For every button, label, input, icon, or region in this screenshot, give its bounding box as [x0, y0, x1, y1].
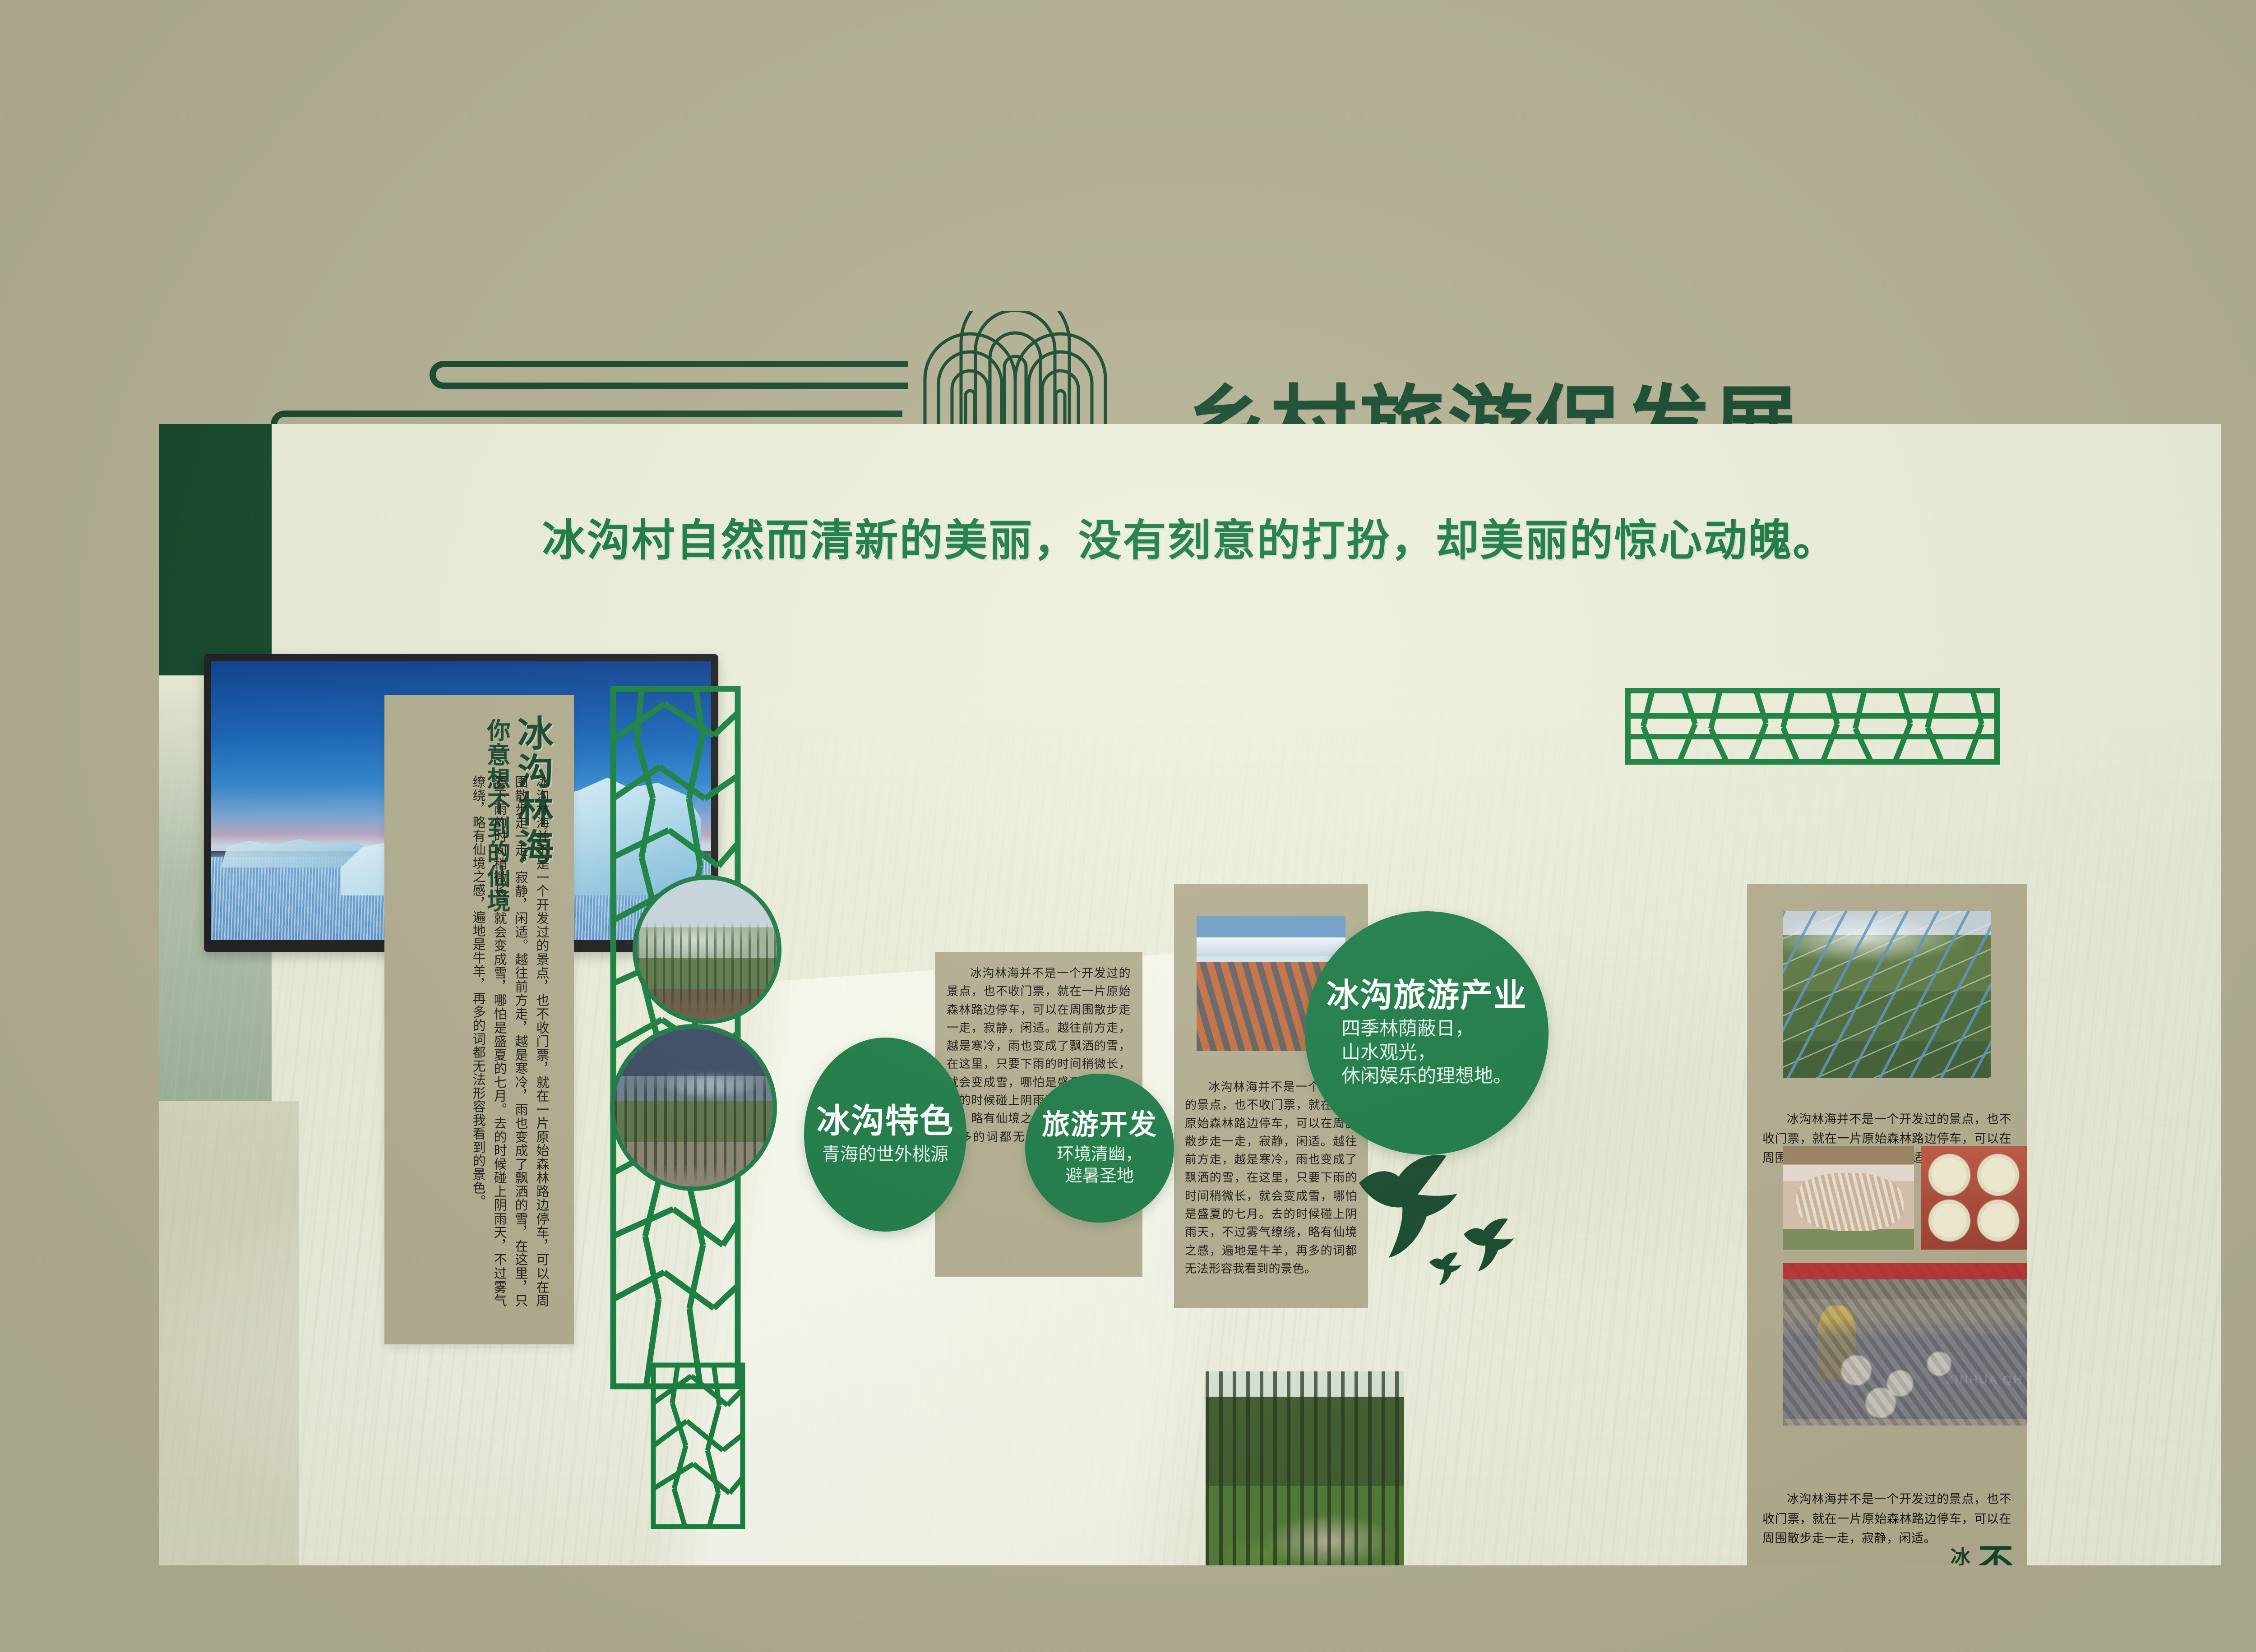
poster-stage: 乡村旅游促发展 冰沟村自然而清新的美丽，没有刻意的打扮，却美丽的惊心动魄。 冰沟…	[0, 0, 2256, 1652]
swiss-subtitle: 冰沟林海美如瑞士	[1944, 1546, 1973, 1565]
mountain-river-photo	[615, 1029, 772, 1186]
badge-special-subtitle: 青海的世外桃源	[822, 1143, 948, 1166]
badge-development[interactable]: 旅游开发 环境清幽， 避暑圣地	[1025, 1074, 1174, 1223]
main-board: 冰沟村自然而清新的美丽，没有刻意的打扮，却美丽的惊心动魄。 冰沟林海 你意想不到…	[159, 424, 2221, 1565]
mossy-forest-photo	[1206, 1371, 1404, 1565]
mountain-photo-bubble	[610, 1024, 777, 1191]
aerial-plan-photo	[1783, 911, 1991, 1078]
yogurt-bowls-photo-inner	[1921, 1146, 2027, 1250]
badge-special[interactable]: 冰沟特色 青海的世外桃源	[804, 1038, 966, 1232]
food-market-photo: XINHUA QH	[1783, 1263, 2027, 1426]
badge-development-title: 旅游开发	[1042, 1110, 1157, 1140]
photo-watermark: XINHUA QH	[1946, 1373, 2023, 1387]
forest-photo-bubble	[633, 875, 781, 1024]
vertical-panel-body: 冰沟林海并不是一个开发过的景点，也不收门票，就在一片原始森林路边停车，可以在周围…	[467, 775, 552, 1307]
swiss-text-group: 不是瑞士 冰沟林海美如瑞士	[1896, 1543, 2031, 1565]
mosaic-lattice-strip	[1625, 688, 2000, 765]
aerial-resort-plan-photo	[1783, 911, 1991, 1078]
badge-industry[interactable]: 冰沟旅游产业 四季林荫蔽日， 山水观光， 休闲娱乐的理想地。	[1305, 911, 1549, 1155]
badge-industry-subtitle: 四季林荫蔽日， 山水观光， 休闲娱乐的理想地。	[1341, 1017, 1512, 1088]
vertical-text-panel: 冰沟林海 你意想不到的仙境 冰沟林海并不是一个开发过的景点，也不收门票，就在一片…	[384, 695, 574, 1344]
badge-industry-title: 冰沟旅游产业	[1327, 978, 1527, 1012]
outdoor-food-market-photo: XINHUA QH	[1783, 1263, 2027, 1426]
misty-forest-photo	[637, 880, 777, 1020]
badge-special-title: 冰沟特色	[817, 1103, 954, 1139]
decor-line-1	[430, 361, 908, 389]
swiss-title: 不是瑞士	[1967, 1543, 2018, 1565]
snow-mountain-band	[1197, 937, 1345, 956]
mutton-dish-photo	[1783, 1146, 1914, 1250]
board-subtitle: 冰沟村自然而清新的美丽，没有刻意的打扮，却美丽的惊心动魄。	[159, 505, 2221, 568]
mossy-forest-floor-photo	[1206, 1371, 1404, 1565]
market-vendor	[1817, 1306, 1856, 1380]
header: 乡村旅游促发展	[0, 149, 2256, 352]
far-card-body-2: 冰沟林海并不是一个开发过的景点，也不收门票，就在一片原始森林路边停车，可以在周围…	[1762, 1490, 2011, 1548]
badge-development-subtitle: 环境清幽， 避暑圣地	[1057, 1144, 1142, 1186]
yogurt-bowls-photo	[1921, 1146, 2027, 1250]
mosaic-lattice-small	[651, 1362, 745, 1529]
flying-birds-icon	[1350, 1141, 1539, 1286]
sliced-mutton-dish-photo	[1783, 1146, 1914, 1250]
